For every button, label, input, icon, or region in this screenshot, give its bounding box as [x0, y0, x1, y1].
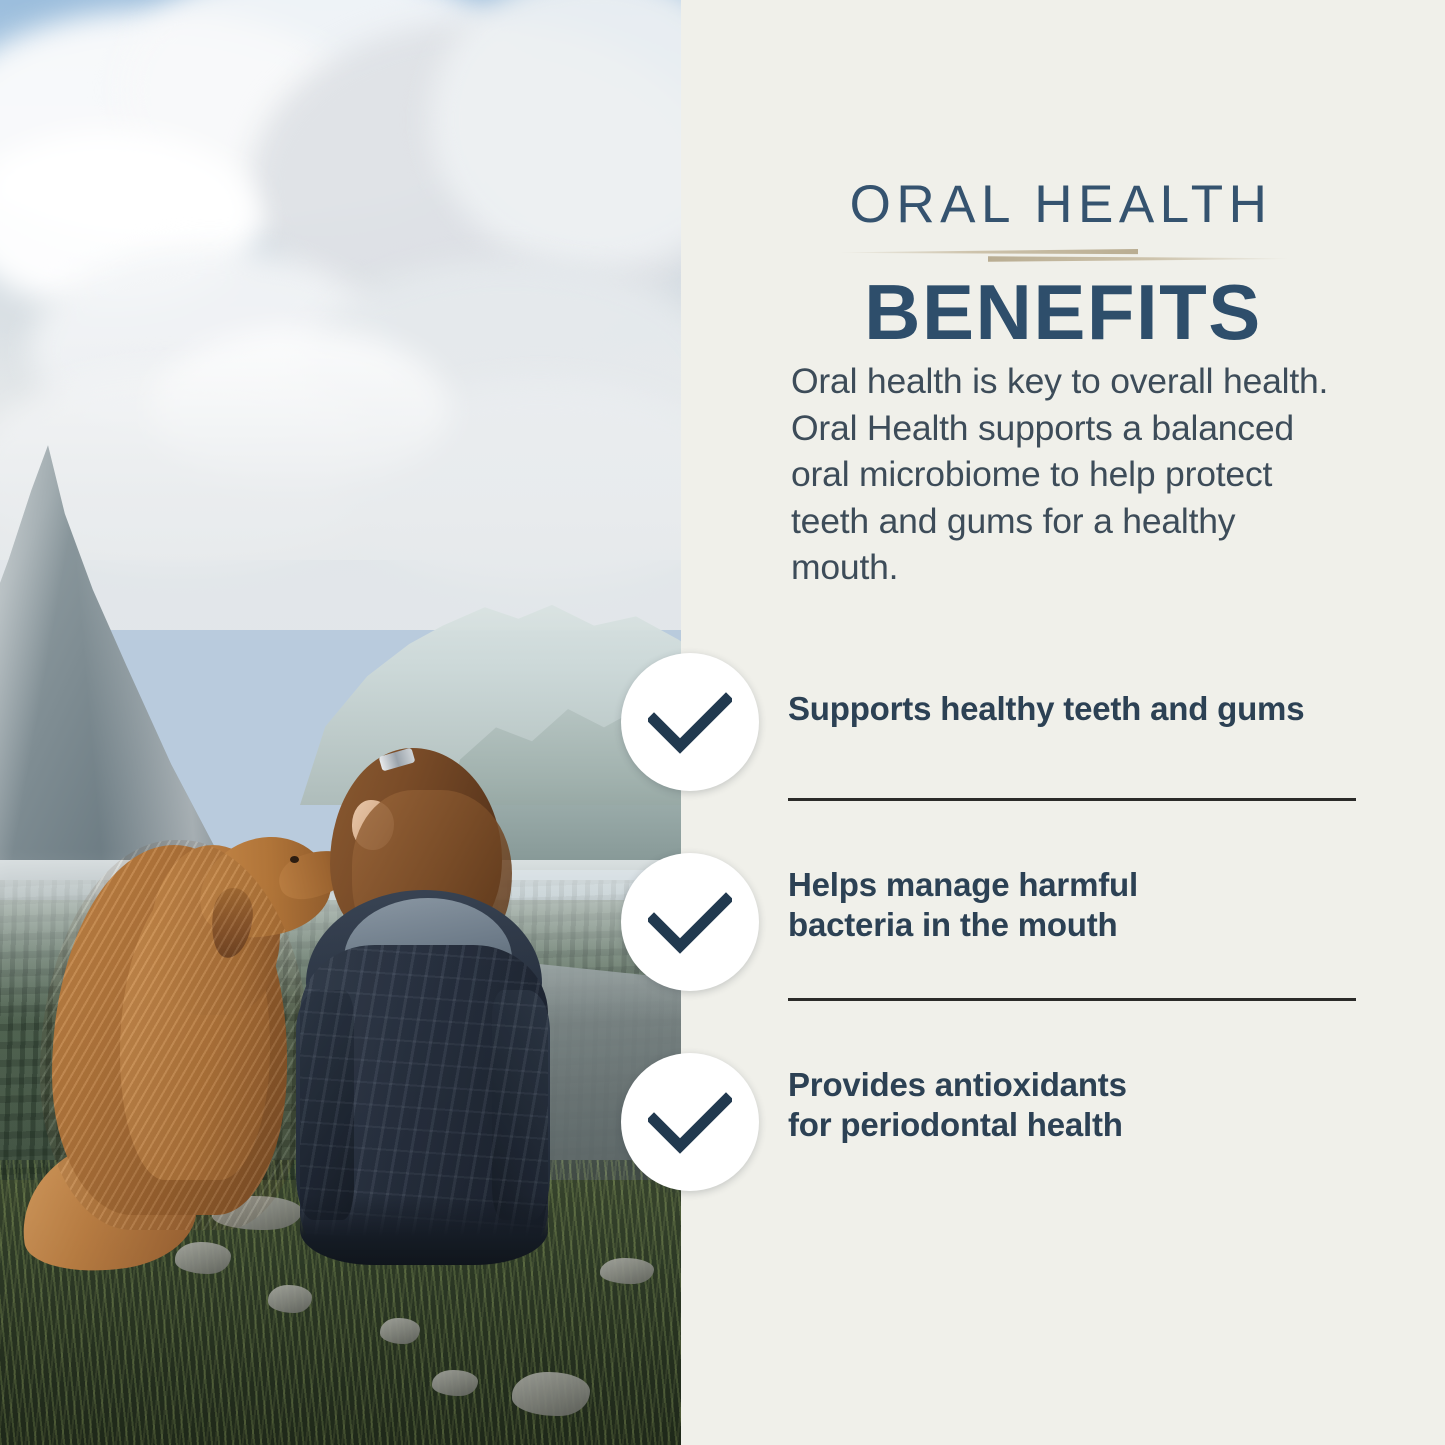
row-separator [788, 998, 1356, 1001]
check-badge-harmful-bacteria [621, 853, 759, 991]
divider-right-stroke [988, 255, 1288, 262]
check-badge-teeth-gums [621, 653, 759, 791]
check-icon [648, 1090, 732, 1154]
benefit-label: Provides antioxidants for periodontal he… [788, 1065, 1388, 1144]
atmospheric-haze [0, 330, 681, 630]
lifestyle-photo [0, 0, 681, 1445]
list-item: Supports healthy teeth and gums [681, 640, 1445, 840]
list-item: Helps manage harmful bacteria in the mou… [681, 840, 1445, 1040]
rock [432, 1370, 478, 1396]
dog-eye [290, 856, 299, 863]
lead-paragraph: Oral health is key to overall health. Or… [791, 358, 1336, 591]
benefit-label: Supports healthy teeth and gums [788, 689, 1388, 729]
check-badge-antioxidants [621, 1053, 759, 1191]
product-benefits-infographic: ORAL HEALTH BENEFITS Oral health is key … [0, 0, 1445, 1445]
row-separator [788, 798, 1356, 801]
rock [512, 1372, 590, 1416]
title-headline: BENEFITS [681, 273, 1445, 351]
rock [175, 1242, 231, 1274]
jacket-hem-shadow [300, 1195, 548, 1265]
benefit-label: Helps manage harmful bacteria in the mou… [788, 865, 1388, 944]
list-item: Provides antioxidants for periodontal he… [681, 1040, 1445, 1240]
benefits-list: Supports healthy teeth and gums Helps ma… [681, 640, 1445, 1240]
rock [380, 1318, 420, 1344]
divider-left-stroke [838, 249, 1138, 256]
rock [268, 1285, 312, 1313]
rock [600, 1258, 654, 1284]
content-panel: ORAL HEALTH BENEFITS Oral health is key … [681, 0, 1445, 1445]
title-eyebrow: ORAL HEALTH [681, 178, 1445, 231]
flourish-divider-icon [838, 245, 1288, 267]
check-icon [648, 890, 732, 954]
page-title: ORAL HEALTH BENEFITS [681, 178, 1445, 351]
check-icon [648, 690, 732, 754]
